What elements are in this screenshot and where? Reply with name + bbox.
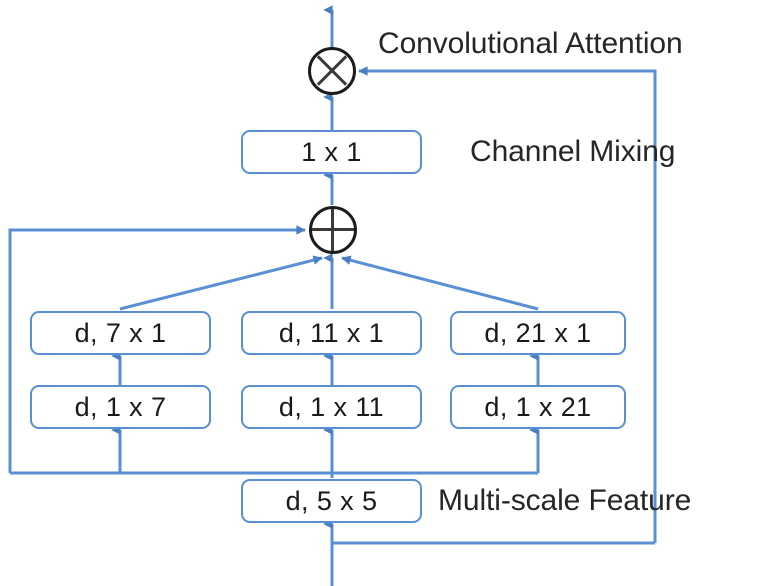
add-operator-node <box>309 206 357 254</box>
box-depthwise-7x1[interactable]: d, 7 x 1 <box>30 311 211 355</box>
box-label: d, 1 x 7 <box>75 392 167 423</box>
box-channel-mix-1x1[interactable]: 1 x 1 <box>241 130 422 174</box>
box-depthwise-21x1[interactable]: d, 21 x 1 <box>450 311 626 355</box>
box-depthwise-1x7[interactable]: d, 1 x 7 <box>30 385 211 429</box>
label-channel-mixing: Channel Mixing <box>470 135 675 169</box>
plus-stroke-vertical <box>331 209 334 251</box>
box-label: d, 11 x 1 <box>279 318 384 349</box>
box-label: d, 1 x 21 <box>484 392 591 423</box>
box-depthwise-5x5[interactable]: d, 5 x 5 <box>241 479 422 523</box>
box-label: d, 5 x 5 <box>286 486 378 517</box>
convolutional-attention-diagram: 1 x 1 d, 7 x 1 d, 11 x 1 d, 21 x 1 d, 1 … <box>0 0 774 586</box>
box-label: d, 1 x 11 <box>279 392 384 423</box>
box-depthwise-11x1[interactable]: d, 11 x 1 <box>241 311 422 355</box>
edge-7x1-to-add <box>120 258 322 309</box>
box-depthwise-1x11[interactable]: d, 1 x 11 <box>241 385 422 429</box>
box-label: d, 7 x 1 <box>75 318 167 349</box>
box-label: 1 x 1 <box>301 137 362 168</box>
edge-21x1-to-add <box>342 258 538 309</box>
label-multi-scale-feature: Multi-scale Feature <box>438 484 691 518</box>
box-depthwise-1x21[interactable]: d, 1 x 21 <box>450 385 626 429</box>
label-convolutional-attention: Convolutional Attention <box>378 27 683 61</box>
multiply-operator-node <box>308 47 356 95</box>
box-label: d, 21 x 1 <box>484 318 591 349</box>
